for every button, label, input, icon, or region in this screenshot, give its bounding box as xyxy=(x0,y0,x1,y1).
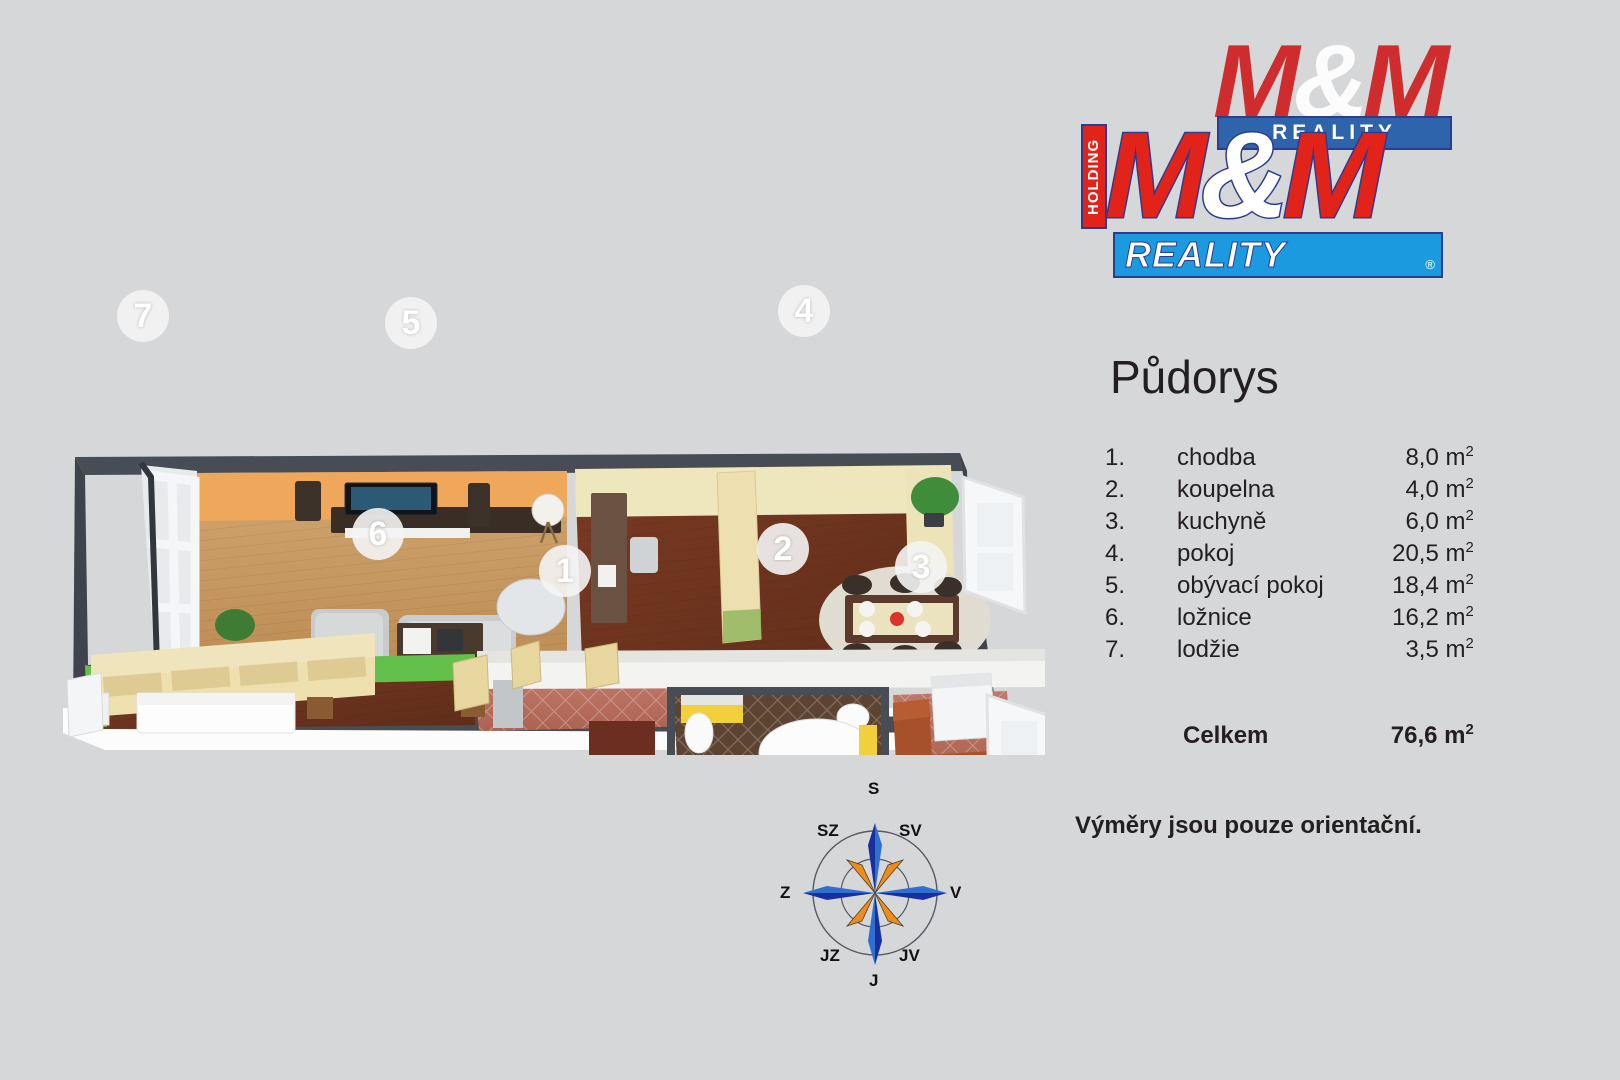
floor-lamp-shade xyxy=(532,494,564,526)
corridor-wall-top xyxy=(477,649,1045,663)
room-marker-1[interactable]: 1 xyxy=(539,545,591,597)
room-marker-3[interactable]: 3 xyxy=(895,541,947,593)
room-area-exponent: 2 xyxy=(1465,476,1473,492)
bathroom-wall-west xyxy=(667,687,675,755)
logo-lower-wordmark: M&M xyxy=(1105,114,1378,236)
room-area: 18,4 m2 xyxy=(1324,570,1474,602)
logo-lower-reality-text: REALITY xyxy=(1115,234,1441,276)
bathroom-wall-north xyxy=(667,687,889,695)
bathroom-wall-east xyxy=(881,687,889,755)
room-area-table: 1. chodba 8,0 m2 2. koupelna 4,0 m2 3. k… xyxy=(1105,442,1474,752)
room-area-rows: 1. chodba 8,0 m2 2. koupelna 4,0 m2 3. k… xyxy=(1105,442,1474,752)
compass-rose-icon xyxy=(775,783,975,988)
window-room4-pane-bottom xyxy=(977,553,1013,591)
room-area-value: 16,2 xyxy=(1392,604,1439,631)
floor-plan-legend-panel: Půdorys 1. chodba 8,0 m2 2. koupelna 4,0… xyxy=(1105,350,1505,840)
disclaimer-note: Výměry jsou pouze orientační. xyxy=(1075,812,1505,840)
compass-rose: S SV V JV J JZ Z SZ xyxy=(775,783,975,988)
table-row: 1. chodba 8,0 m2 xyxy=(1105,442,1474,474)
room-area-value: 20,5 xyxy=(1392,540,1439,567)
room-marker-6[interactable]: 6 xyxy=(352,508,404,560)
total-label: Celkem xyxy=(1177,666,1324,752)
room-area: 16,2 m2 xyxy=(1324,602,1474,634)
room-marker-4[interactable]: 4 xyxy=(778,285,830,337)
room-marker-2[interactable]: 2 xyxy=(757,523,809,575)
table-row: 2. koupelna 4,0 m2 xyxy=(1105,474,1474,506)
room-area-exponent: 2 xyxy=(1465,508,1473,524)
compass-label-northwest: SZ xyxy=(817,821,839,841)
table-row: 5. obývací pokoj 18,4 m2 xyxy=(1105,570,1474,602)
room-area-value: 4,0 xyxy=(1405,476,1438,503)
room-index: 6. xyxy=(1105,602,1177,634)
toilet xyxy=(685,713,713,753)
room-name: chodba xyxy=(1177,442,1324,474)
speaker-right xyxy=(468,483,490,527)
plant-living xyxy=(215,609,255,641)
room-area-exponent: 2 xyxy=(1465,636,1473,652)
door-bedroom-open xyxy=(453,655,489,711)
compass-label-southwest: JZ xyxy=(820,946,840,966)
entry-door-panel xyxy=(67,673,103,737)
logo-lower-reality-bar: REALITY ® xyxy=(1113,232,1443,278)
door-living-open xyxy=(511,641,541,689)
bed-pillows xyxy=(137,693,295,705)
room-area-value: 18,4 xyxy=(1392,572,1439,599)
coffee-table-book xyxy=(403,628,431,654)
logo-holding-text: HOLDING xyxy=(1083,126,1105,227)
room-area-unit: m xyxy=(1445,508,1465,535)
room-area-unit: m xyxy=(1445,444,1465,471)
room-area-unit: m xyxy=(1445,604,1465,631)
room-name: lodžie xyxy=(1177,634,1324,666)
front-door xyxy=(589,721,655,755)
logo-lower-ampersand: & xyxy=(1201,107,1283,243)
room-area: 8,0 m2 xyxy=(1324,442,1474,474)
room-area-value: 8,0 xyxy=(1405,444,1438,471)
partition-planter xyxy=(723,609,761,643)
room-area-unit: m xyxy=(1445,572,1465,599)
room-area: 3,5 m2 xyxy=(1324,634,1474,666)
room-name: pokoj xyxy=(1177,538,1324,570)
logo-lower-m1: M xyxy=(1105,107,1201,243)
page-title: Půdorys xyxy=(1110,350,1505,404)
room-index: 2. xyxy=(1105,474,1177,506)
palm-pot xyxy=(924,513,944,527)
registered-trademark-icon: ® xyxy=(1425,257,1435,272)
total-area: 76,6 m2 xyxy=(1324,666,1474,752)
bathroom-backsplash xyxy=(681,695,743,705)
room-area-exponent: 2 xyxy=(1465,540,1473,556)
compass-label-southeast: JV xyxy=(899,946,920,966)
window-room4-pane-top xyxy=(977,503,1013,547)
bathroom-cabinet xyxy=(859,725,877,755)
company-logo: M&M REALITY M&M HOLDING REALITY ® xyxy=(1105,30,1450,280)
room-area-exponent: 2 xyxy=(1465,444,1473,460)
room-marker-5[interactable]: 5 xyxy=(385,297,437,349)
door-room4-open xyxy=(585,643,619,689)
room-name: ložnice xyxy=(1177,602,1324,634)
room-index: 4. xyxy=(1105,538,1177,570)
room-index: 3. xyxy=(1105,506,1177,538)
room-area-exponent: 2 xyxy=(1465,604,1473,620)
room-area: 6,0 m2 xyxy=(1324,506,1474,538)
compass-label-south: J xyxy=(869,971,878,991)
room-area-unit: m xyxy=(1445,476,1465,503)
table-row: 4. pokoj 20,5 m2 xyxy=(1105,538,1474,570)
room-area-value: 3,5 xyxy=(1405,636,1438,663)
window-kitchen-pane-top xyxy=(1001,721,1037,755)
table-row: 3. kuchyně 6,0 m2 xyxy=(1105,506,1474,538)
room-name: obývací pokoj xyxy=(1177,570,1324,602)
desk-chair xyxy=(630,537,658,573)
room-area-value: 6,0 xyxy=(1405,508,1438,535)
logo-lower-m2: M xyxy=(1283,107,1379,243)
speaker-left xyxy=(295,481,321,521)
table-row: 6. ložnice 16,2 m2 xyxy=(1105,602,1474,634)
room-area-exponent: 2 xyxy=(1465,572,1473,588)
room-area: 20,5 m2 xyxy=(1324,538,1474,570)
compass-label-east: V xyxy=(950,883,961,903)
floor-plan-3d-render: 7 5 6 4 1 2 3 xyxy=(45,225,1045,755)
table-row: 7. lodžie 3,5 m2 xyxy=(1105,634,1474,666)
tv-screen xyxy=(351,487,431,510)
total-area-value: 76,6 xyxy=(1391,722,1438,749)
nightstand xyxy=(307,697,333,719)
compass-label-north: S xyxy=(868,779,879,799)
compass-label-northeast: SV xyxy=(899,821,922,841)
room-area-unit: m xyxy=(1445,540,1465,567)
room-area-unit: m xyxy=(1445,636,1465,663)
logo-holding-tab: HOLDING xyxy=(1081,124,1107,229)
room-index: 1. xyxy=(1105,442,1177,474)
room-index: 5. xyxy=(1105,570,1177,602)
room-marker-7[interactable]: 7 xyxy=(117,290,169,342)
compass-label-west: Z xyxy=(780,883,790,903)
total-area-unit: m xyxy=(1444,722,1465,749)
palm-plant xyxy=(911,477,959,517)
coffee-table-tray xyxy=(437,629,463,651)
room-name: koupelna xyxy=(1177,474,1324,506)
desk-paper xyxy=(598,565,616,587)
room-4-wall-north xyxy=(575,465,951,517)
room-name: kuchyně xyxy=(1177,506,1324,538)
desk xyxy=(591,493,627,623)
floor-plan-illustration xyxy=(45,225,1045,755)
total-spacer xyxy=(1105,666,1177,752)
total-row: Celkem 76,6 m2 xyxy=(1105,666,1474,752)
total-area-exponent: 2 xyxy=(1465,722,1473,738)
room-area: 4,0 m2 xyxy=(1324,474,1474,506)
room-index: 7. xyxy=(1105,634,1177,666)
